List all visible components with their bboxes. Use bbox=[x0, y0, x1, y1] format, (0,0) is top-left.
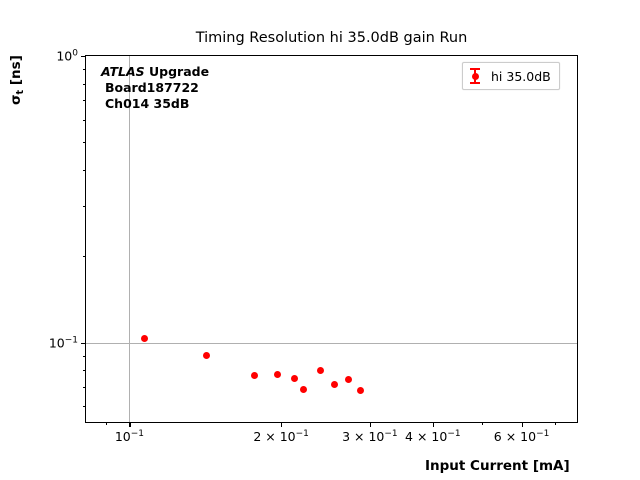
chart-title: Timing Resolution hi 35.0dB gain Run bbox=[85, 30, 578, 46]
y-tick-minor bbox=[83, 406, 86, 407]
y-axis-label: σt [ns] bbox=[8, 55, 24, 105]
x-tick-minor bbox=[106, 422, 107, 425]
x-axis-label: Input Current [mA] bbox=[425, 458, 570, 474]
x-tick-major bbox=[281, 422, 282, 427]
y-tick-minor bbox=[83, 256, 86, 257]
y-gridline bbox=[86, 343, 577, 344]
x-tick-minor bbox=[555, 422, 556, 425]
atlas-label: ATLAS bbox=[101, 64, 145, 79]
y-tick-minor bbox=[83, 206, 86, 207]
y-tick-minor bbox=[83, 84, 86, 85]
x-tick-major bbox=[433, 422, 434, 427]
y-tick-minor bbox=[83, 370, 86, 371]
x-tick-major bbox=[522, 422, 523, 427]
x-tick-major bbox=[370, 422, 371, 427]
upgrade-text: Upgrade bbox=[149, 64, 209, 79]
y-tick-major bbox=[81, 56, 86, 57]
data-point bbox=[300, 386, 307, 393]
x-tick-minor bbox=[482, 422, 483, 425]
y-tick-label: 10−1 bbox=[49, 335, 78, 350]
x-tick-label: 2 × 10−1 bbox=[253, 429, 309, 444]
legend-entry-label: hi 35.0dB bbox=[491, 69, 551, 84]
y-tick-minor bbox=[83, 120, 86, 121]
data-point bbox=[357, 387, 364, 394]
y-tick-minor bbox=[83, 142, 86, 143]
y-tick-minor bbox=[83, 170, 86, 171]
x-tick-label: 4 × 10−1 bbox=[405, 429, 461, 444]
data-point bbox=[251, 372, 258, 379]
y-tick-minor bbox=[83, 100, 86, 101]
y-tick-minor bbox=[83, 356, 86, 357]
x-tick-major bbox=[129, 422, 130, 427]
data-point bbox=[345, 376, 352, 383]
x-tick-label: 6 × 10−1 bbox=[494, 429, 550, 444]
board-label: Board187722 bbox=[101, 80, 209, 96]
data-point bbox=[291, 375, 298, 382]
y-axis-subscript: t bbox=[15, 90, 26, 95]
y-tick-minor bbox=[83, 69, 86, 70]
data-point bbox=[331, 381, 338, 388]
legend-errorbar-marker-icon bbox=[469, 67, 481, 85]
y-tick-minor bbox=[83, 387, 86, 388]
figure-canvas: Timing Resolution hi 35.0dB gain Run σt … bbox=[0, 0, 640, 480]
atlas-annotation: ATLAS Upgrade Board187722 Ch014 35dB bbox=[101, 64, 209, 112]
y-axis-sigma: σ bbox=[8, 94, 24, 105]
data-point bbox=[317, 367, 324, 374]
data-point bbox=[141, 335, 148, 342]
y-axis-unit: [ns] bbox=[8, 55, 24, 90]
x-tick-label: 3 × 10−1 bbox=[342, 429, 398, 444]
legend-box[interactable]: hi 35.0dB bbox=[462, 62, 560, 90]
x-tick-label: 10−1 bbox=[115, 429, 144, 444]
data-point bbox=[203, 352, 210, 359]
y-tick-major bbox=[81, 343, 86, 344]
channel-label: Ch014 35dB bbox=[101, 96, 209, 112]
data-point bbox=[274, 371, 281, 378]
y-tick-label: 100 bbox=[56, 49, 78, 64]
